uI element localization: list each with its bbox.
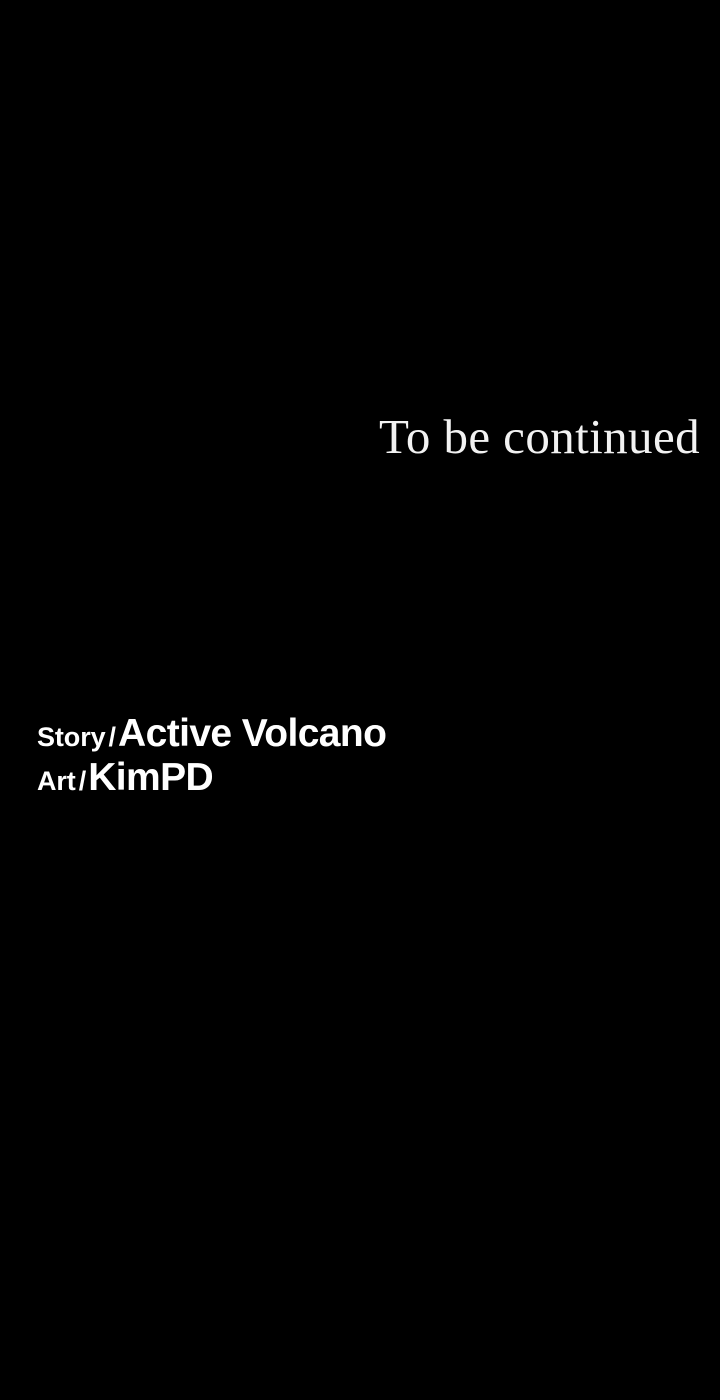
credit-value-art: KimPD [88,756,213,799]
credit-line-art: Art/KimPD [37,756,677,800]
to-be-continued-text: To be continued [379,412,700,461]
credit-label-art: Art [37,766,76,796]
credit-value-story: Active Volcano [118,712,386,755]
credit-separator-art: / [76,766,89,796]
credit-separator-story: / [106,722,119,752]
to-be-continued-block: To be continued [0,412,700,461]
credit-line-story: Story/Active Volcano [37,712,677,756]
credit-label-story: Story [37,722,106,752]
credits-block: Story/Active Volcano Art/KimPD [37,712,677,800]
comic-end-panel: To be continued Story/Active Volcano Art… [0,0,720,1400]
